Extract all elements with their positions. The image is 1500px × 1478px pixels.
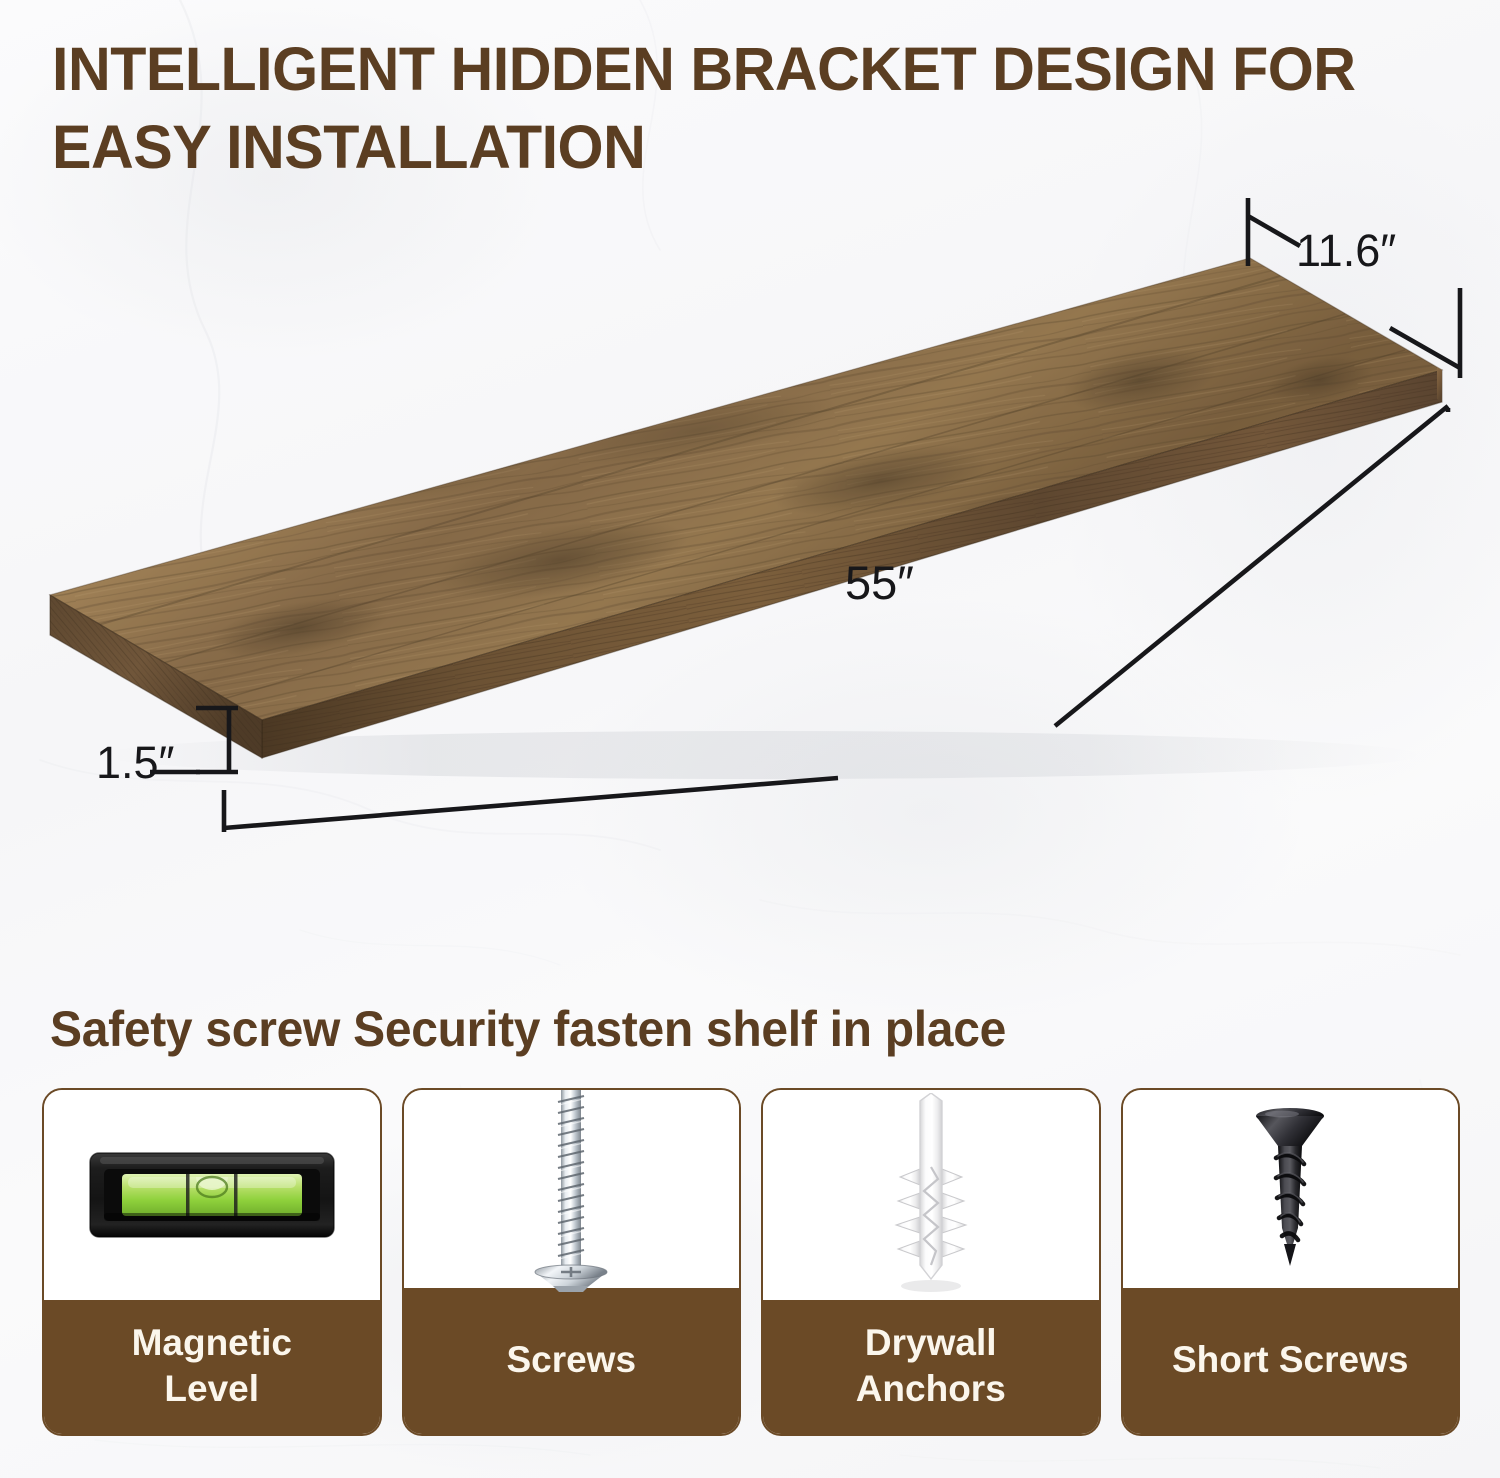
shelf-right-end-cap — [1437, 367, 1442, 402]
accessory-card-label: Magnetic Level — [44, 1300, 380, 1434]
accessory-card-screws[interactable]: Screws — [402, 1088, 742, 1436]
dimension-label-length: 55″ — [845, 555, 914, 610]
infographic-page: INTELLIGENT HIDDEN BRACKET DESIGN FOR EA… — [0, 0, 1500, 1478]
accessory-card-label: Screws — [404, 1288, 740, 1434]
shelf-diagram — [0, 180, 1500, 860]
accessory-card-label: Short Screws — [1123, 1288, 1459, 1434]
drywall-anchor-icon — [763, 1090, 1099, 1300]
section-title-safety: Safety screw Security fasten shelf in pl… — [50, 1000, 1006, 1058]
short-screw-icon — [1123, 1090, 1459, 1288]
accessory-card-drywall-anchors[interactable]: Drywall Anchors — [761, 1088, 1101, 1436]
dimension-label-thickness: 1.5″ — [96, 737, 175, 789]
accessory-card-short-screws[interactable]: Short Screws — [1121, 1088, 1461, 1436]
accessory-card-magnetic-level[interactable]: Magnetic Level — [42, 1088, 382, 1436]
shelf-illustration — [0, 180, 1500, 860]
accessory-card-row: Magnetic Level — [42, 1088, 1460, 1436]
magnetic-level-icon — [44, 1090, 380, 1300]
dimension-label-depth: 11.6″ — [1296, 225, 1396, 277]
accessory-card-label: Drywall Anchors — [763, 1300, 1099, 1434]
page-title: INTELLIGENT HIDDEN BRACKET DESIGN FOR EA… — [52, 30, 1429, 186]
screw-icon — [404, 1090, 740, 1288]
